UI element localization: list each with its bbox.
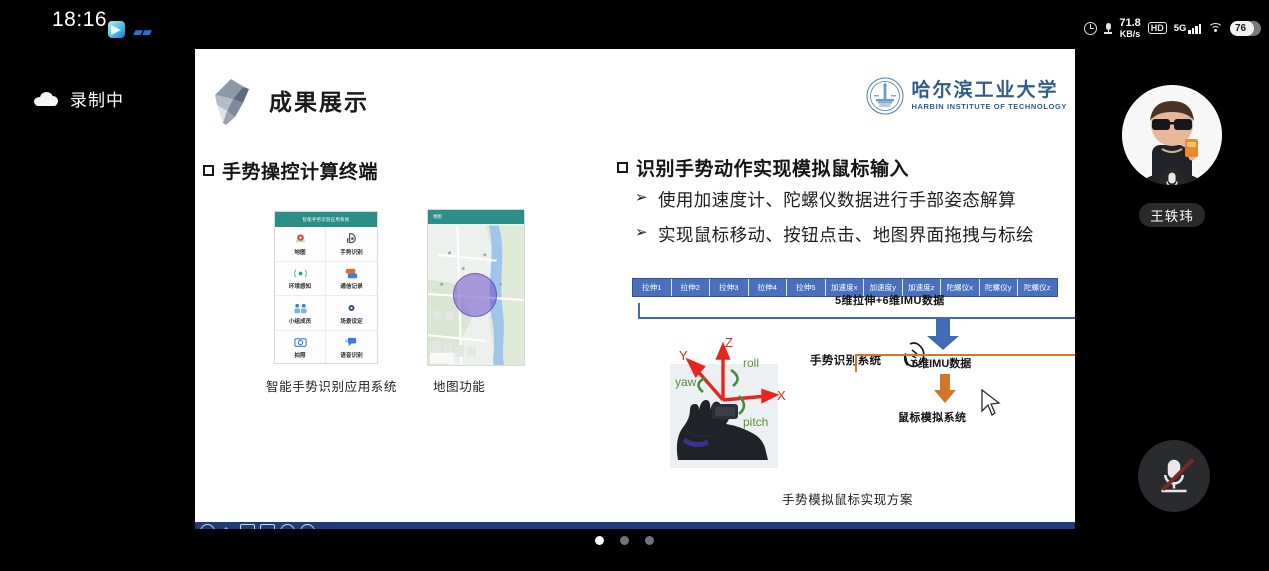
page-indicator[interactable] bbox=[595, 536, 654, 545]
section-heading-left: 手势操控计算终端 bbox=[203, 157, 378, 184]
shared-screen-area[interactable]: 成果展示 哈尔滨工业大学 HARBIN INSTITUTE OF TECHNOL… bbox=[195, 49, 1075, 529]
app-cell-map: 地图 bbox=[275, 227, 326, 262]
caption-solution: 手势模拟鼠标实现方案 bbox=[782, 489, 913, 508]
alarm-clock-icon bbox=[1084, 22, 1097, 35]
avatar bbox=[1122, 85, 1222, 185]
more-options-icon[interactable]: ··· bbox=[280, 524, 295, 529]
signal-waves-icon bbox=[293, 266, 308, 280]
blue-down-arrow-icon bbox=[926, 319, 960, 356]
table-cell: 拉伸1 bbox=[633, 279, 672, 296]
axis-label-z: Z bbox=[725, 335, 733, 350]
app-cell-label: 场景设定 bbox=[340, 317, 362, 325]
mouse-cursor-icon bbox=[981, 389, 1001, 417]
app-title-bar: 智能手势识别应用系统 bbox=[275, 212, 377, 227]
wifi-icon bbox=[1208, 22, 1223, 34]
presentation-toolbar[interactable]: ← ✎ cc ◹ ··· → bbox=[195, 522, 1075, 529]
table-cell: 陀螺仪y bbox=[980, 279, 1019, 296]
cloud-icon: ▰▰ bbox=[133, 24, 151, 40]
presentation-slide: 成果展示 哈尔滨工业大学 HARBIN INSTITUTE OF TECHNOL… bbox=[195, 49, 1075, 529]
app-screenshot-phone: 智能手势识别应用系统 地图 手势识别 bbox=[274, 211, 378, 364]
map-title-label: 地图 bbox=[433, 214, 442, 220]
pen-icon[interactable]: ✎ bbox=[220, 524, 235, 529]
axis-label-pitch: pitch bbox=[743, 415, 768, 429]
cellular-indicator: 5G bbox=[1174, 23, 1201, 34]
table-cell: 陀螺仪z bbox=[1018, 279, 1057, 296]
battery-level: 76 bbox=[1230, 23, 1246, 34]
participant-tile[interactable]: 王轶玮 bbox=[1122, 85, 1222, 227]
microphone-icon bbox=[1166, 173, 1179, 185]
recording-label: 录制中 bbox=[70, 86, 124, 111]
university-name-cn: 哈尔滨工业大学 bbox=[912, 81, 1068, 100]
list-item: ➢ 实现鼠标移动、按钮点击、地图界面拖拽与标绘 bbox=[635, 222, 1034, 247]
map-title-bar: 地图 bbox=[428, 210, 524, 224]
table-cell: 拉伸2 bbox=[672, 279, 711, 296]
list-item: ➢ 使用加速度计、陀螺仪数据进行手部姿态解算 bbox=[635, 187, 1034, 212]
hand-gesture-icon bbox=[344, 232, 359, 246]
arrow-bullet-icon: ➢ bbox=[635, 222, 648, 243]
scene-settings-icon bbox=[344, 301, 359, 315]
back-arrow-icon[interactable]: ← bbox=[200, 524, 215, 529]
list-item-label: 使用加速度计、陀螺仪数据进行手部姿态解算 bbox=[658, 187, 1016, 212]
network-speed-value: 71.8 bbox=[1119, 18, 1140, 30]
crystal-polygon-icon bbox=[209, 73, 261, 129]
map-canvas bbox=[428, 224, 524, 366]
app-cell-label: 拍照 bbox=[294, 351, 305, 359]
battery-indicator: 76 bbox=[1230, 21, 1261, 36]
app-cell-label: 手势识别 bbox=[340, 248, 362, 256]
axis-label-x: X bbox=[777, 388, 786, 403]
orange-down-arrow-icon bbox=[933, 374, 957, 409]
network-speed-unit: KB/s bbox=[1119, 30, 1140, 39]
square-bullet-icon bbox=[203, 165, 214, 176]
signal-bars-icon bbox=[1188, 24, 1201, 34]
chat-log-icon bbox=[344, 266, 359, 280]
section-heading-left-label: 手势操控计算终端 bbox=[222, 162, 378, 183]
app-cell-members: 小组成员 bbox=[275, 296, 326, 331]
closed-caption-icon[interactable]: cc bbox=[240, 524, 255, 529]
hit-seal-icon bbox=[865, 76, 905, 116]
university-logo: 哈尔滨工业大学 HARBIN INSTITUTE OF TECHNOLOGY bbox=[865, 76, 1068, 116]
section-heading-right: 识别手势动作实现模拟鼠标输入 bbox=[617, 154, 909, 181]
app-cell-voice: 语音识别 bbox=[326, 331, 377, 365]
mouse-simulation-system-label: 鼠标模拟系统 bbox=[898, 409, 966, 425]
page-dot[interactable] bbox=[595, 536, 604, 545]
bullet-list: ➢ 使用加速度计、陀螺仪数据进行手部姿态解算 ➢ 实现鼠标移动、按钮点击、地图界… bbox=[635, 187, 1034, 257]
app-icon-grid: 地图 手势识别 环境感知 bbox=[275, 227, 377, 364]
screen-share-window: 18:16 ▰▰ 71.8 KB/s HD 5G 76 bbox=[0, 0, 1269, 571]
telegram-icon bbox=[108, 21, 125, 38]
app-cell-label: 小组成员 bbox=[289, 317, 311, 325]
page-dot[interactable] bbox=[620, 536, 629, 545]
list-item-label: 实现鼠标移动、按钮点击、地图界面拖拽与标绘 bbox=[658, 222, 1034, 247]
recording-indicator: 录制中 bbox=[34, 86, 124, 111]
section-heading-right-label: 识别手势动作实现模拟鼠标输入 bbox=[636, 159, 909, 180]
camera-icon bbox=[293, 335, 308, 349]
table-cell: 拉伸4 bbox=[749, 279, 788, 296]
imu-data-label: 6维IMU数据 bbox=[912, 355, 971, 371]
status-bar: 18:16 ▰▰ 71.8 KB/s HD 5G 76 bbox=[0, 0, 1269, 44]
hd-badge: HD bbox=[1148, 22, 1167, 34]
table-cell: 拉伸3 bbox=[710, 279, 749, 296]
brace-label: 5维拉伸+6维IMU数据 bbox=[835, 292, 945, 308]
arrow-bullet-icon: ➢ bbox=[635, 187, 648, 208]
app-cell-comms: 通信记录 bbox=[326, 262, 377, 297]
cloud-icon bbox=[34, 92, 58, 106]
microphone-muted-icon bbox=[1163, 460, 1186, 493]
mute-microphone-button[interactable] bbox=[1138, 440, 1210, 512]
orientation-axes-overlay: Z Y X roll pitch yaw bbox=[665, 334, 800, 454]
microphone-icon bbox=[1104, 23, 1112, 34]
university-name-en: HARBIN INSTITUTE OF TECHNOLOGY bbox=[912, 103, 1068, 111]
app-cell-gesture: 手势识别 bbox=[326, 227, 377, 262]
map-pin-icon bbox=[293, 232, 308, 246]
page-title: 成果展示 bbox=[269, 83, 369, 117]
app-cell-scene: 场景设定 bbox=[326, 296, 377, 331]
map-screenshot-phone: 地图 bbox=[427, 209, 525, 366]
axis-label-y: Y bbox=[679, 348, 688, 363]
axis-label-roll: roll bbox=[743, 356, 759, 370]
page-dot[interactable] bbox=[645, 536, 654, 545]
table-cell: 拉伸5 bbox=[787, 279, 826, 296]
forward-arrow-icon[interactable]: → bbox=[300, 524, 315, 529]
group-members-icon bbox=[293, 301, 308, 315]
network-speed: 71.8 KB/s bbox=[1119, 18, 1140, 39]
app-cell-camera: 拍照 bbox=[275, 331, 326, 365]
app-cell-label: 地图 bbox=[294, 248, 305, 256]
app-cell-label: 通信记录 bbox=[340, 282, 362, 290]
app-cell-environment: 环境感知 bbox=[275, 262, 326, 297]
table-cell: 陀螺仪x bbox=[941, 279, 980, 296]
caption-map: 地图功能 bbox=[433, 376, 485, 395]
caption-app: 智能手势识别应用系统 bbox=[266, 376, 397, 395]
square-bullet-icon bbox=[617, 162, 628, 173]
status-indicators: 71.8 KB/s HD 5G 76 bbox=[1084, 18, 1261, 39]
voice-recognition-icon bbox=[344, 335, 359, 349]
app-cell-label: 环境感知 bbox=[289, 282, 311, 290]
participant-name: 王轶玮 bbox=[1139, 203, 1205, 227]
status-clock: 18:16 bbox=[52, 8, 107, 32]
cellular-label: 5G bbox=[1174, 23, 1187, 34]
axis-label-yaw: yaw bbox=[675, 375, 697, 389]
camera-off-icon[interactable]: ◹ bbox=[260, 524, 275, 529]
app-cell-label: 语音识别 bbox=[340, 351, 362, 359]
